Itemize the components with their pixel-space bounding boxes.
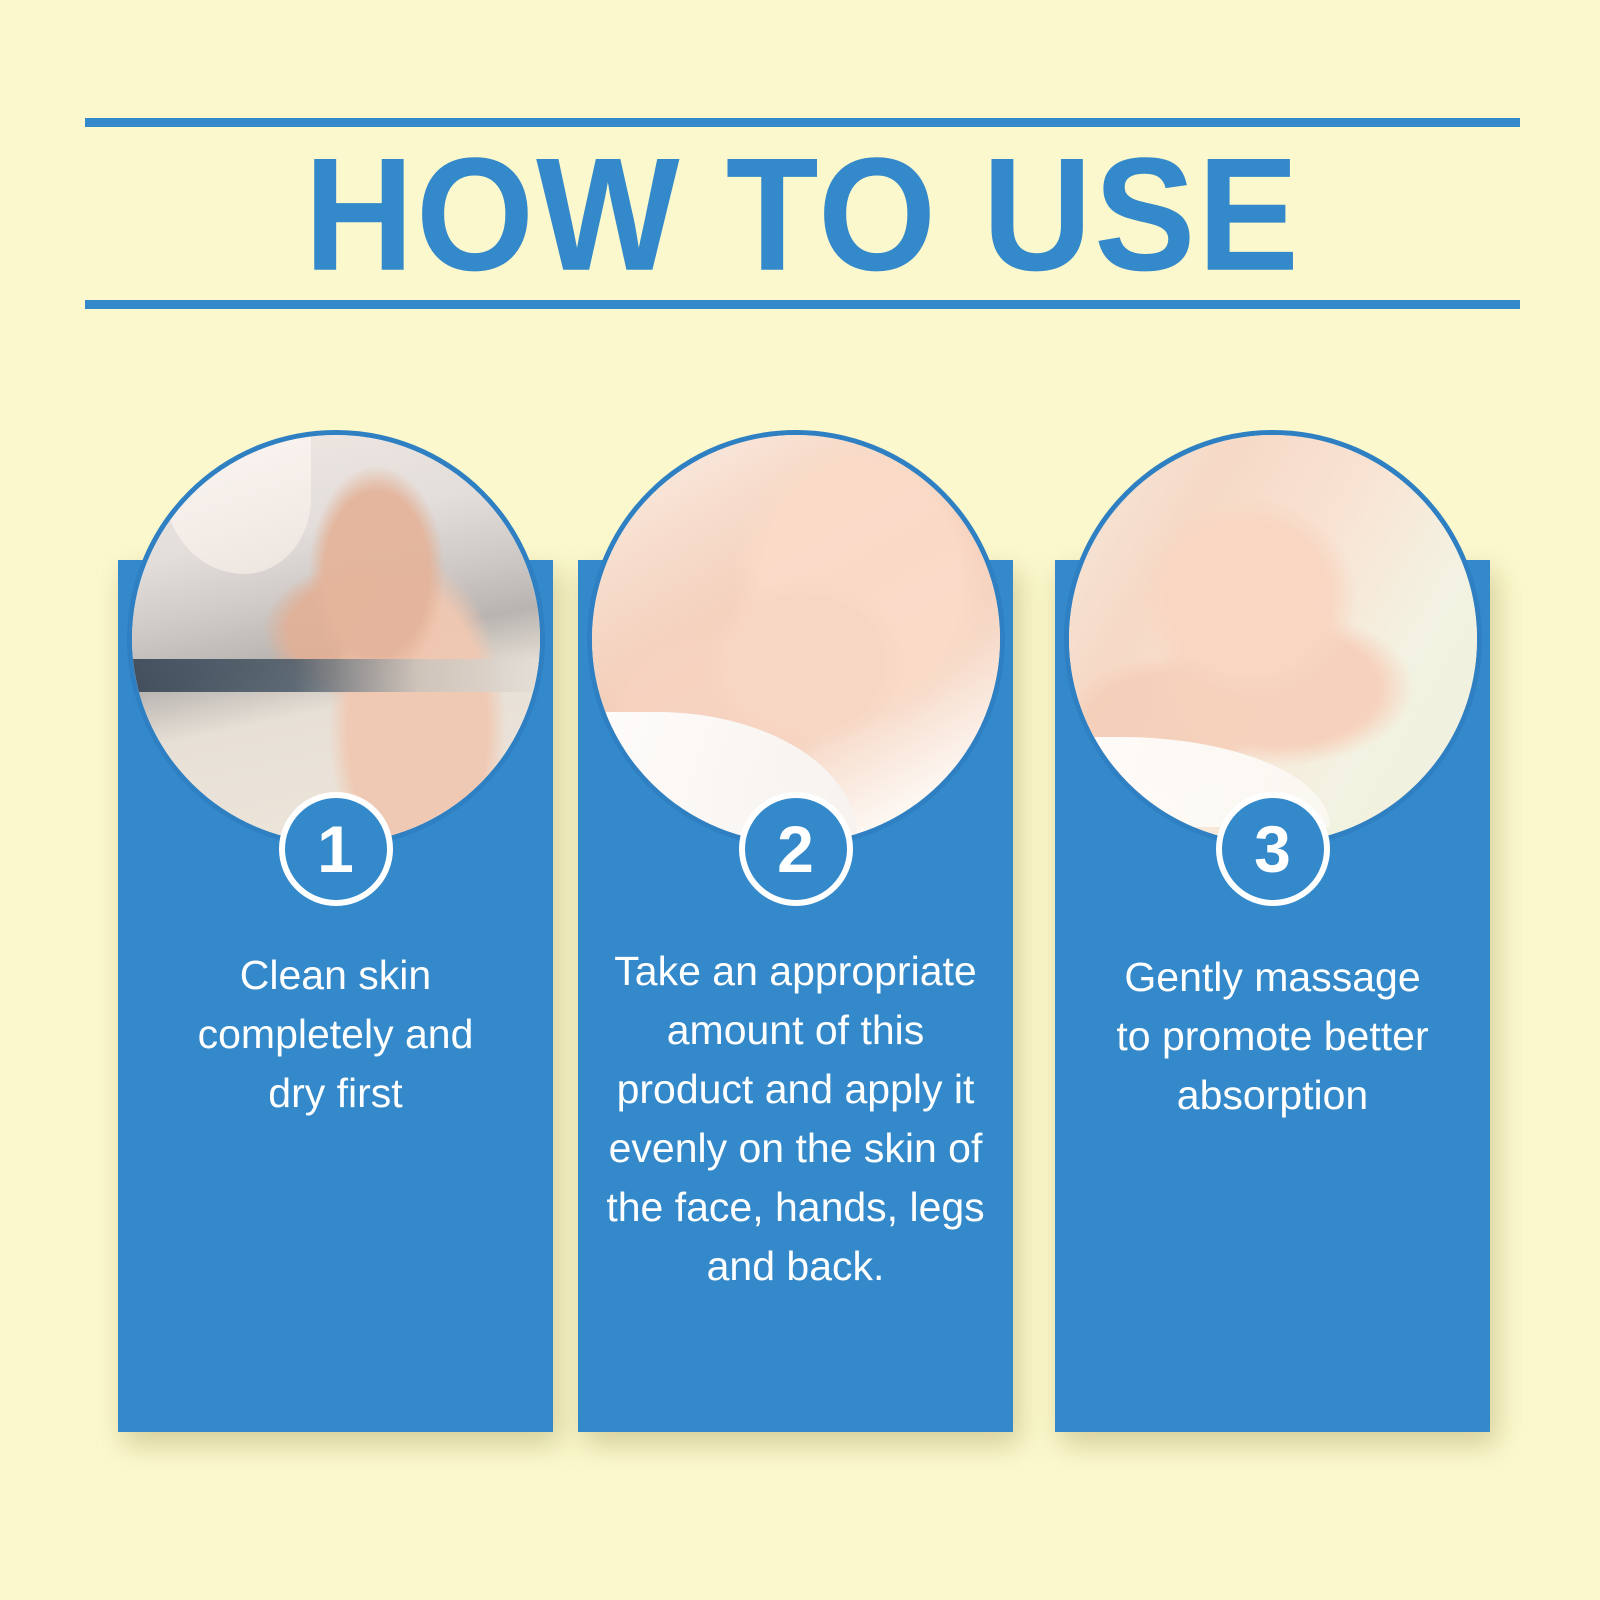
elderly-person-holding-leg-photo [132,435,540,843]
step-photo-3 [1064,430,1482,848]
hand-applying-lotion-to-leg-photo [592,435,1000,843]
step-caption-3: Gently massage to promote better absorpt… [1077,948,1468,1125]
step-caption-1: Clean skin completely and dry first [140,946,531,1123]
step-number-badge-1: 1 [279,792,393,906]
infographic-canvas: HOW TO USE 1 Clean skin completely and d… [0,0,1600,1600]
steps-row: 1 Clean skin completely and dry first 2 … [0,0,1600,1600]
step-card-2: 2 Take an appropriate amount of this pro… [578,560,1013,1432]
step-card-1: 1 Clean skin completely and dry first [118,560,553,1432]
step-photo-1 [127,430,545,848]
step-card-3: 3 Gently massage to promote better absor… [1055,560,1490,1432]
step-number-badge-2: 2 [739,792,853,906]
step-photo-2 [587,430,1005,848]
step-caption-2: Take an appropriate amount of this produ… [600,942,991,1296]
step-number-badge-3: 3 [1216,792,1330,906]
hands-massaging-leg-photo [1069,435,1477,843]
